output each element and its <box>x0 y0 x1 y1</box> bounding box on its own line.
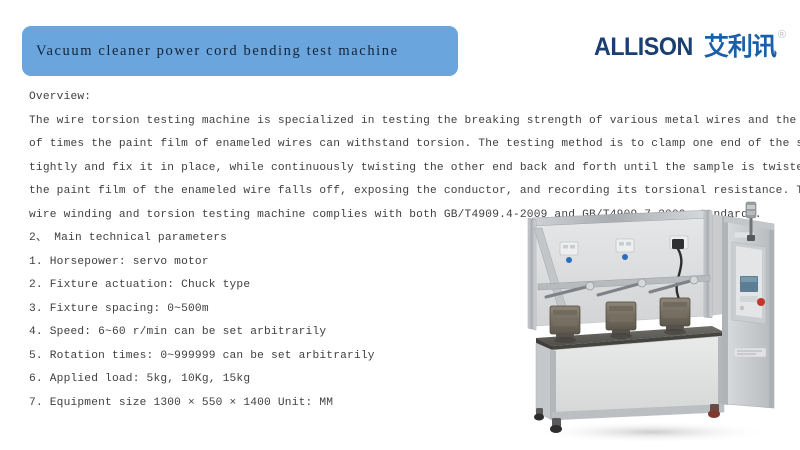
control-cabinet-frame-right <box>769 223 774 408</box>
registered-trademark-icon: ® <box>778 30 786 41</box>
swing-arm-pivot <box>638 279 646 287</box>
overview-label: Overview: <box>29 86 777 110</box>
brand-wordmark-text: ALLISON <box>594 32 693 62</box>
caster-wheel <box>534 408 544 421</box>
plug-connector <box>672 239 684 249</box>
socket-plate <box>560 242 578 255</box>
cabinet-frame-left <box>550 349 556 420</box>
machine-photo <box>512 198 792 446</box>
socket-plate <box>616 239 634 252</box>
control-cabinet-frame-left <box>722 216 728 405</box>
page-title: Vacuum cleaner power cord bending test m… <box>22 43 399 60</box>
indicator-lamp-icon <box>622 254 628 260</box>
overview-line: The wire torsion testing machine is spec… <box>29 110 777 134</box>
page-title-banner: Vacuum cleaner power cord bending test m… <box>22 26 458 76</box>
start-button <box>740 306 744 310</box>
swing-arm-pivot <box>586 282 594 290</box>
cabinet-nameplate <box>734 348 766 357</box>
swing-arm-pivot <box>690 276 698 284</box>
frame-post-left <box>528 218 536 330</box>
frame-post-mid <box>704 210 712 318</box>
indicator-lamp-icon <box>566 257 572 263</box>
brand-logo: ALLISON 艾利讯 ® <box>594 32 786 72</box>
emergency-stop-button <box>757 298 765 306</box>
brand-chinese-text: 艾利讯 <box>704 32 776 62</box>
overview-line: of times the paint film of enameled wire… <box>29 133 777 157</box>
hmi-screen-glare <box>741 277 757 282</box>
overview-line: tightly and fix it in place, while conti… <box>29 157 777 181</box>
tower-light-pole <box>750 218 753 236</box>
hmi-keypad <box>740 296 758 302</box>
floor-shadow <box>532 421 772 443</box>
